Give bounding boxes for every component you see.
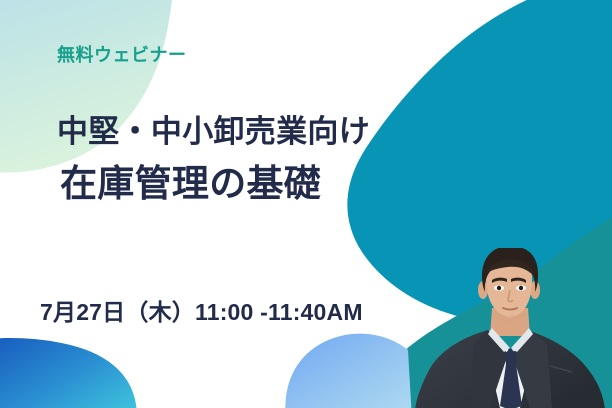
- webinar-banner: 無料ウェビナー 中堅・中小卸売業向け 在庫管理の基礎 7月27日（木）11:00…: [0, 0, 612, 408]
- eyebrow-label: 無料ウェビナー: [57, 41, 187, 67]
- datetime-label: 7月27日（木）11:00 -11:40AM: [40, 293, 363, 327]
- text-content: 無料ウェビナー 中堅・中小卸売業向け 在庫管理の基礎 7月27日（木）11:00…: [0, 0, 612, 408]
- title-line-1: 中堅・中小卸売業向け: [57, 106, 370, 151]
- title-line-2: 在庫管理の基礎: [60, 153, 321, 207]
